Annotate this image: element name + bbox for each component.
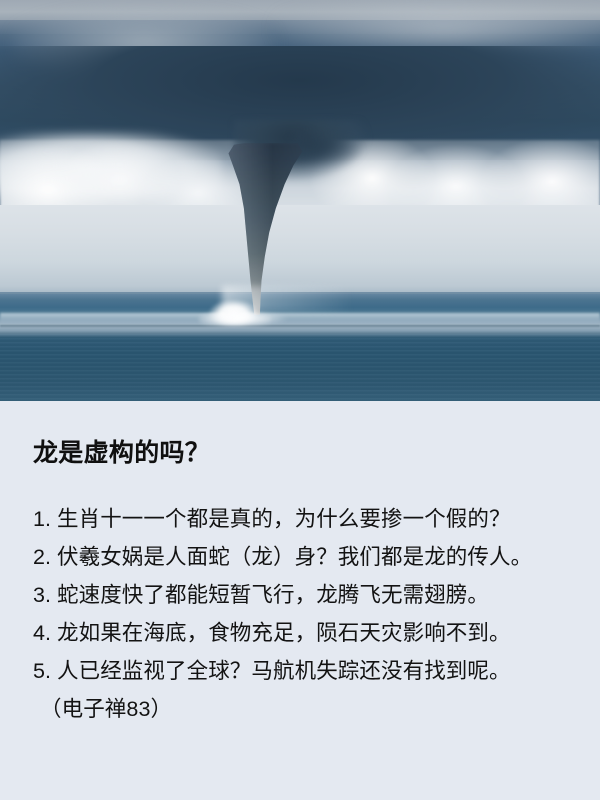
waterspout-photo — [0, 0, 600, 401]
attribution-text: （电子禅83） — [33, 690, 572, 728]
list-item-text: 生肖十一一个都是真的，为什么要掺一个假的？ — [57, 507, 511, 531]
list-item-number: 5. — [33, 652, 57, 690]
list-item-text: 人已经监视了全球？马航机失踪还没有找到呢。 — [57, 659, 511, 683]
horizon-line — [0, 292, 600, 294]
list-item: 2.伏羲女娲是人面蛇（龙）身？我们都是龙的传人。 — [33, 538, 572, 576]
ocean-shadow-line — [0, 325, 600, 328]
list-item-number: 3. — [33, 576, 57, 614]
list-item: 3.蛇速度快了都能短暂飞行，龙腾飞无需翅膀。 — [33, 576, 572, 614]
list-item-number: 1. — [33, 500, 57, 538]
list-item: 5.人已经监视了全球？马航机失踪还没有找到呢。 — [33, 652, 572, 690]
reason-list: 1.生肖十一一个都是真的，为什么要掺一个假的？ 2.伏羲女娲是人面蛇（龙）身？我… — [33, 500, 572, 690]
page-title: 龙是虚构的吗？ — [33, 438, 572, 468]
post-card: 龙是虚构的吗？ 1.生肖十一一个都是真的，为什么要掺一个假的？ 2.伏羲女娲是人… — [0, 0, 600, 800]
list-item-number: 4. — [33, 614, 57, 652]
list-item: 4.龙如果在海底，食物充足，陨石天灾影响不到。 — [33, 614, 572, 652]
list-item-text: 伏羲女娲是人面蛇（龙）身？我们都是龙的传人。 — [57, 545, 532, 569]
list-item: 1.生肖十一一个都是真的，为什么要掺一个假的？ — [33, 500, 572, 538]
list-item-text: 龙如果在海底，食物充足，陨石天灾影响不到。 — [57, 621, 511, 645]
list-item-text: 蛇速度快了都能短暂飞行，龙腾飞无需翅膀。 — [57, 583, 489, 607]
cloud-wisp-right — [276, 0, 600, 48]
atmospheric-haze-layer — [0, 205, 600, 297]
ocean-glint-band — [0, 313, 600, 323]
ocean-wave-texture — [0, 330, 600, 401]
text-panel: 龙是虚构的吗？ 1.生肖十一一个都是真的，为什么要掺一个假的？ 2.伏羲女娲是人… — [0, 401, 600, 800]
list-item-number: 2. — [33, 538, 57, 576]
